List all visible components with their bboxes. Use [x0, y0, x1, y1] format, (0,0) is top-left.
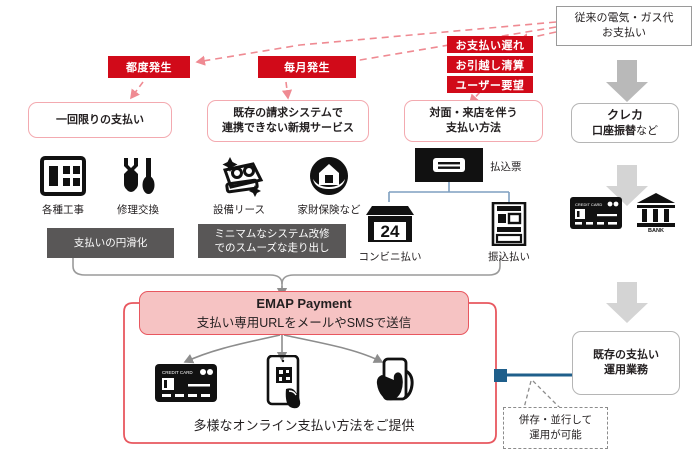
- bank-icon: BANK: [635, 191, 677, 238]
- mobile-payment-icon: [368, 355, 420, 414]
- atm-icon: [478, 200, 540, 246]
- switch-panel-icon: [30, 150, 96, 198]
- emap-title: EMAP Payment: [256, 296, 351, 311]
- coexistence-note-line1: 併存・並行して: [519, 413, 592, 428]
- legacy-utility-line2: お支払い: [602, 26, 646, 41]
- bank-icon-label: BANK: [648, 228, 664, 233]
- badge-oshiharai-okure[interactable]: お支払い遅れ: [447, 36, 533, 53]
- benefit-box-minimal-修改: ミニマムなシステム改修 でのスムーズな走り出し: [198, 224, 346, 258]
- payment-slip-icon: [415, 148, 483, 187]
- badge-maitsuki-hassei[interactable]: 毎月発生: [258, 56, 356, 78]
- emap-online-caption: 多様なオンライン支払い方法をご提供: [139, 415, 469, 434]
- icon-label-conveni: コンビニ払い: [355, 249, 425, 264]
- house-insurance-icon: [288, 150, 370, 198]
- case-box-face-to-face-line1: 対面・来店を伴う: [430, 106, 518, 121]
- existing-operations-line2: 運用業務: [604, 363, 648, 378]
- existing-operations-line1: 既存の支払い: [593, 348, 659, 363]
- case-box-new-service[interactable]: 既存の請求システムで 連携できない新規サービス: [207, 100, 369, 142]
- svg-text:CREDIT CARD: CREDIT CARD: [575, 202, 602, 207]
- icon-label-lease: 設備リース: [203, 202, 275, 217]
- existing-operations-box[interactable]: 既存の支払い 運用業務: [572, 331, 680, 395]
- case-box-face-to-face[interactable]: 対面・来店を伴う 支払い方法: [404, 100, 543, 142]
- payment-method-box[interactable]: クレカ 口座振替など: [571, 103, 679, 143]
- payment-method-kureka: クレカ: [607, 107, 643, 124]
- icon-label-koji: 各種工事: [30, 202, 96, 217]
- badge-tsudo-hassei[interactable]: 都度発生: [108, 56, 190, 78]
- case-box-one-time-label: 一回限りの支払い: [56, 113, 144, 128]
- badge-ohikkoshi-seisan[interactable]: お引越し清算: [447, 56, 533, 73]
- coexistence-note: 併存・並行して 運用が可能: [503, 407, 608, 449]
- icon-label-furikomi: 振込払い: [478, 249, 540, 264]
- svg-text:CREDIT CARD: CREDIT CARD: [162, 370, 193, 375]
- legacy-utility-payment-box[interactable]: 従来の電気・ガス代 お支払い: [556, 6, 692, 46]
- benefit-box-minimal-line2: でのスムーズな走り出し: [215, 241, 330, 255]
- payment-method-kouza: 口座振替: [592, 125, 636, 137]
- benefit-box-smooth-payment-label: 支払いの円滑化: [74, 236, 148, 250]
- credit-card-icon-right: CREDIT CARD: [570, 196, 622, 235]
- icon-group-lease: 設備リース: [203, 150, 275, 217]
- emap-payment-banner[interactable]: EMAP Payment 支払い専用URLをメールやSMSで送信: [139, 291, 469, 335]
- payment-method-suffix: など: [636, 125, 658, 137]
- icon-label-shuri: 修理交換: [105, 202, 171, 217]
- legacy-utility-line1: 従来の電気・ガス代: [575, 11, 674, 26]
- case-box-face-to-face-line2: 支払い方法: [446, 121, 501, 136]
- emap-subtitle: 支払い専用URLをメールやSMSで送信: [197, 312, 412, 331]
- case-box-new-service-line1: 既存の請求システムで: [233, 106, 343, 121]
- badge-user-youbou[interactable]: ユーザー要望: [447, 76, 533, 93]
- benefit-box-smooth-payment: 支払いの円滑化: [47, 228, 174, 258]
- credit-card-icon: CREDIT CARD: [155, 362, 217, 409]
- gas-stove-icon: [203, 150, 275, 198]
- icon-group-furikomi: 振込払い: [478, 200, 540, 264]
- wrench-screwdriver-icon: [105, 150, 171, 198]
- payment-slip-label: 払込票: [490, 159, 522, 174]
- icon-group-shuri: 修理交換: [105, 150, 171, 217]
- icon-group-koji: 各種工事: [30, 150, 96, 217]
- case-box-new-service-line2: 連携できない新規サービス: [222, 121, 354, 136]
- qr-code-scan-icon: [262, 355, 314, 414]
- coexistence-note-line2: 運用が可能: [529, 428, 582, 443]
- convenience-store-icon: 24: [355, 200, 425, 246]
- case-box-one-time[interactable]: 一回限りの支払い: [28, 102, 172, 138]
- svg-text:24: 24: [381, 222, 400, 241]
- benefit-box-minimal-line1: ミニマムなシステム改修: [214, 227, 329, 241]
- icon-group-conveni: 24 コンビニ払い: [355, 200, 425, 264]
